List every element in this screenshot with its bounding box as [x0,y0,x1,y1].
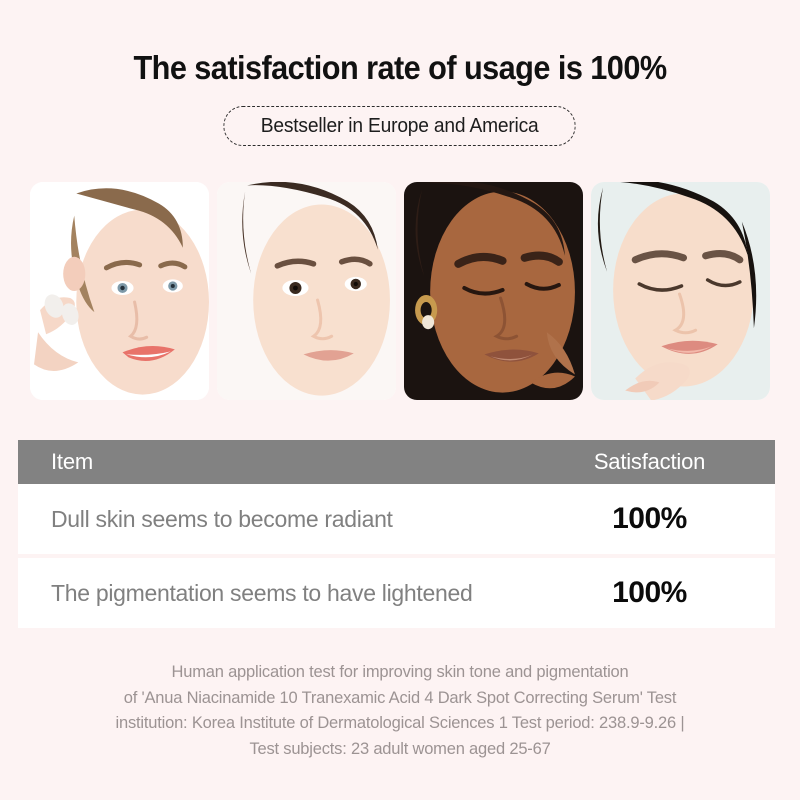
photo-strip [30,182,770,400]
photo-card-3 [404,182,583,400]
footnote-line-4: Test subjects: 23 adult women aged 25-67 [60,737,740,763]
table-header-row: Item Satisfaction [18,440,775,484]
satisfaction-table: Item Satisfaction Dull skin seems to bec… [18,440,775,628]
portrait-image-1 [30,182,209,400]
footnote-line-3: institution: Korea Institute of Dermatol… [60,711,740,737]
portrait-image-3 [404,182,583,400]
row-satisfaction-value: 100% [542,576,775,610]
table-row: The pigmentation seems to have lightened… [18,558,775,628]
footnote-line-1: Human application test for improving ski… [60,660,740,686]
portrait-image-2 [217,182,396,400]
row-item-label: The pigmentation seems to have lightened [18,580,542,607]
infographic-page: The satisfaction rate of usage is 100% B… [0,0,800,800]
column-header-item: Item [18,449,542,475]
row-satisfaction-value: 100% [542,502,775,536]
column-header-satisfaction: Satisfaction [542,449,775,475]
page-title: The satisfaction rate of usage is 100% [28,46,772,90]
portrait-image-4 [591,182,770,400]
table-row: Dull skin seems to become radiant 100% [18,484,775,554]
photo-card-4 [591,182,770,400]
footnote: Human application test for improving ski… [60,660,740,762]
row-item-label: Dull skin seems to become radiant [18,506,542,533]
footnote-line-2: of 'Anua Niacinamide 10 Tranexamic Acid … [60,686,740,712]
badge-container: Bestseller in Europe and America [0,106,800,146]
photo-card-2 [217,182,396,400]
photo-card-1 [30,182,209,400]
bestseller-badge: Bestseller in Europe and America [224,106,577,146]
